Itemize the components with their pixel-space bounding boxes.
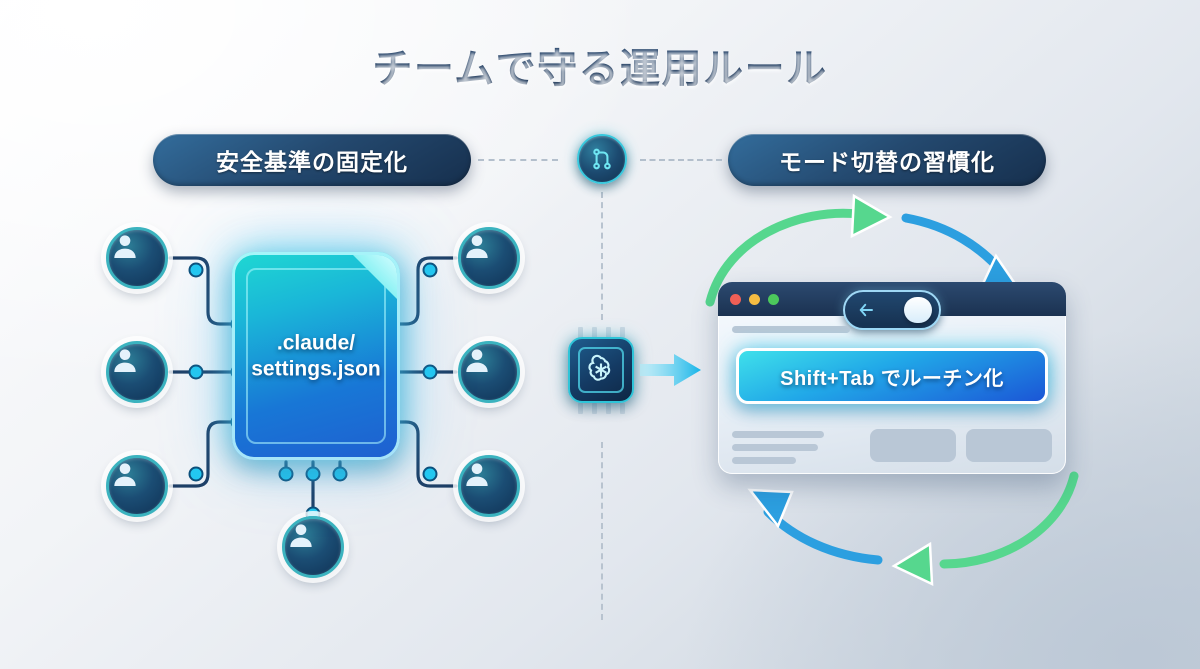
settings-file-label: .claude/ settings.json: [232, 330, 400, 381]
shortcut-cta-button[interactable]: Shift+Tab でルーチン化: [736, 348, 1048, 404]
team-member-avatar-7[interactable]: [282, 516, 344, 578]
traffic-light-close[interactable]: [730, 294, 741, 305]
content-placeholder-line-1: [732, 431, 824, 438]
team-member-avatar-5[interactable]: [458, 341, 520, 403]
browser-content-area: Shift+Tab でルーチン化: [718, 316, 1066, 474]
badge-left-label: 安全基準の固定化: [216, 143, 408, 177]
browser-footer-area: [732, 429, 1052, 464]
content-placeholder-line-2: [732, 444, 818, 451]
content-placeholder-lines: [732, 429, 824, 464]
browser-title-bar: [718, 282, 1066, 316]
content-placeholder-block-1[interactable]: [870, 429, 956, 462]
page-title: チームで守る運用ルール: [0, 36, 1200, 94]
browser-window-mockup: Shift+Tab でルーチン化: [718, 282, 1066, 474]
badge-left-safety-standard: 安全基準の固定化: [153, 134, 471, 186]
shortcut-cta-label: Shift+Tab でルーチン化: [780, 362, 1004, 391]
git-branch-icon: [589, 146, 615, 172]
mode-switch-panel: Shift+Tab でルーチン化: [700, 196, 1100, 596]
arrow-bottom-blue-shaft: [768, 512, 878, 560]
traffic-light-maximize[interactable]: [768, 294, 779, 305]
ai-chip-icon: [584, 353, 618, 387]
person-icon: [461, 458, 493, 490]
dashed-connector-left: [478, 159, 558, 161]
settings-file-path-line2: settings.json: [238, 356, 394, 382]
traffic-light-minimize[interactable]: [749, 294, 760, 305]
dashed-connector-right: [640, 159, 722, 161]
person-icon: [109, 344, 141, 376]
person-icon: [461, 230, 493, 262]
team-member-avatar-1[interactable]: [106, 227, 168, 289]
person-icon: [109, 230, 141, 262]
person-icon: [285, 519, 317, 551]
person-icon: [109, 458, 141, 490]
team-member-avatar-4[interactable]: [458, 227, 520, 289]
git-branch-hub: [577, 134, 627, 184]
person-icon: [461, 344, 493, 376]
arrow-top-blue-shaft: [906, 218, 1004, 274]
document-fold-corner: [353, 255, 397, 299]
arrow-bottom-green-head: [894, 544, 932, 584]
dashed-divider-top: [601, 192, 603, 320]
arrow-top-green-head: [852, 196, 890, 236]
content-placeholder-line-top: [732, 326, 850, 333]
settings-file-path-line1: .claude/: [238, 330, 394, 356]
arrow-bottom-green-shaft: [944, 476, 1074, 564]
content-placeholder-block-2[interactable]: [966, 429, 1052, 462]
content-placeholder-blocks: [870, 429, 1052, 462]
badge-right-mode-switch: モード切替の習慣化: [728, 134, 1046, 186]
content-placeholder-line-3: [732, 457, 796, 464]
badge-right-label: モード切替の習慣化: [779, 143, 995, 177]
team-member-avatar-6[interactable]: [458, 455, 520, 517]
team-member-avatar-2[interactable]: [106, 341, 168, 403]
infographic-canvas: チームで守る運用ルール 安全基準の固定化 モード切替の習慣化: [0, 0, 1200, 669]
dashed-divider-bottom: [601, 442, 603, 620]
flow-arrow-right: [640, 352, 702, 388]
arrow-right-icon: [640, 354, 701, 386]
ai-chip: [568, 337, 634, 403]
team-member-avatar-3[interactable]: [106, 455, 168, 517]
settings-file-card[interactable]: .claude/ settings.json: [232, 252, 400, 460]
